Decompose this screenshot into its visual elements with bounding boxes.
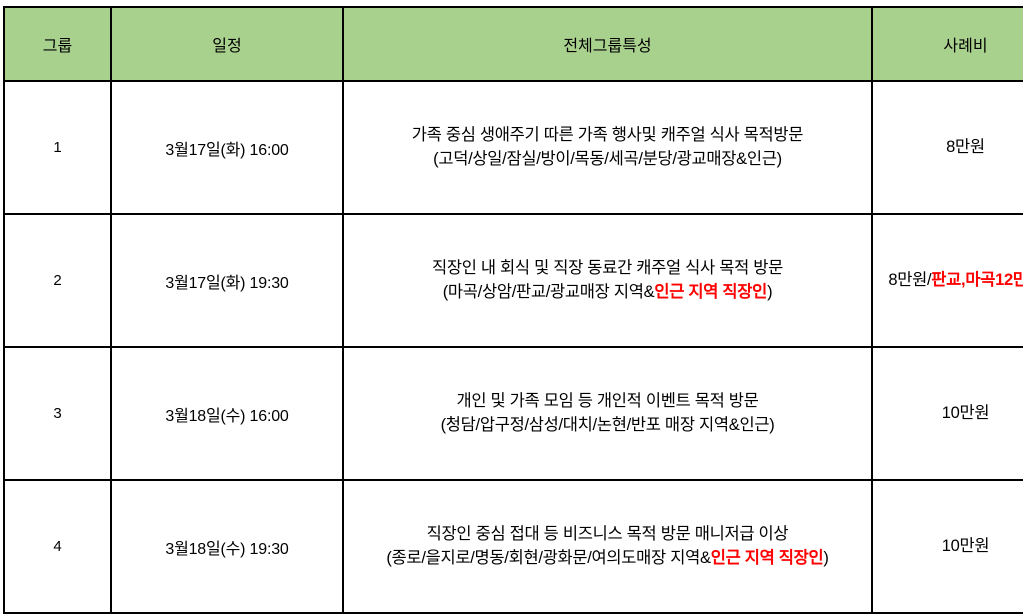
characteristics-line-2: (종로/을지로/명동/회현/광화문/여의도매장 지역&인근 지역 직장인) <box>348 547 867 571</box>
column-header-schedule: 일정 <box>111 7 343 81</box>
characteristics-plain: (청담/압구정/삼성/대치/논현/반포 매장 지역&인근) <box>441 416 775 434</box>
characteristics-line-2: (마곡/상암/판교/광교매장 지역&인근 지역 직장인) <box>348 281 867 305</box>
cell-schedule: 3월18일(수) 16:00 <box>111 347 343 480</box>
cell-group-number: 3 <box>4 347 111 480</box>
cell-schedule: 3월17일(화) 19:30 <box>111 214 343 347</box>
cell-group-number: 4 <box>4 480 111 613</box>
characteristics-plain: (고덕/상일/잠실/방이/목동/세곡/분당/광교매장&인근) <box>433 150 782 168</box>
characteristics-line-1: 가족 중심 생애주기 따른 가족 행사및 캐주얼 식사 목적방문 <box>348 124 867 148</box>
fee-plain: 8만원 <box>946 138 985 156</box>
cell-schedule: 3월18일(수) 19:30 <box>111 480 343 613</box>
cell-fee: 8만원/판교,마곡12만원 <box>872 214 1023 347</box>
characteristics-highlight: 인근 지역 직장인 <box>654 283 767 301</box>
table-container: 그룹 일정 전체그룹특성 사례비 1 3월17일(화) 16:00 가족 중심 … <box>3 6 1018 608</box>
table-row: 2 3월17일(화) 19:30 직장인 내 회식 및 직장 동료간 캐주얼 식… <box>4 214 1023 347</box>
characteristics-line-2: (고덕/상일/잠실/방이/목동/세곡/분당/광교매장&인근) <box>348 148 867 172</box>
column-header-group: 그룹 <box>4 7 111 81</box>
characteristics-line-1: 직장인 내 회식 및 직장 동료간 캐주얼 식사 목적 방문 <box>348 257 867 281</box>
cell-fee: 8만원 <box>872 81 1023 214</box>
fee-highlight: 판교,마곡12만원 <box>931 271 1023 289</box>
cell-characteristics: 개인 및 가족 모임 등 개인적 이벤트 목적 방문 (청담/압구정/삼성/대치… <box>343 347 872 480</box>
table-header-row: 그룹 일정 전체그룹특성 사례비 <box>4 7 1023 81</box>
characteristics-tail: ) <box>767 283 772 301</box>
cell-fee: 10만원 <box>872 347 1023 480</box>
characteristics-line-1: 직장인 중심 접대 등 비즈니스 목적 방문 매니저급 이상 <box>348 523 867 547</box>
characteristics-highlight: 인근 지역 직장인 <box>711 549 824 567</box>
cell-schedule: 3월17일(화) 16:00 <box>111 81 343 214</box>
column-header-fee: 사례비 <box>872 7 1023 81</box>
fee-plain: 10만원 <box>942 537 990 555</box>
table-header: 그룹 일정 전체그룹특성 사례비 <box>4 7 1023 81</box>
group-schedule-table: 그룹 일정 전체그룹특성 사례비 1 3월17일(화) 16:00 가족 중심 … <box>3 6 1023 614</box>
cell-characteristics: 가족 중심 생애주기 따른 가족 행사및 캐주얼 식사 목적방문 (고덕/상일/… <box>343 81 872 214</box>
table-row: 4 3월18일(수) 19:30 직장인 중심 접대 등 비즈니스 목적 방문 … <box>4 480 1023 613</box>
table-row: 1 3월17일(화) 16:00 가족 중심 생애주기 따른 가족 행사및 캐주… <box>4 81 1023 214</box>
characteristics-line-2: (청담/압구정/삼성/대치/논현/반포 매장 지역&인근) <box>348 414 867 438</box>
characteristics-plain: (종로/을지로/명동/회현/광화문/여의도매장 지역& <box>386 549 710 567</box>
characteristics-plain: (마곡/상암/판교/광교매장 지역& <box>443 283 655 301</box>
table-body: 1 3월17일(화) 16:00 가족 중심 생애주기 따른 가족 행사및 캐주… <box>4 81 1023 613</box>
characteristics-tail: ) <box>823 549 828 567</box>
characteristics-line-1: 개인 및 가족 모임 등 개인적 이벤트 목적 방문 <box>348 390 867 414</box>
cell-group-number: 2 <box>4 214 111 347</box>
cell-characteristics: 직장인 중심 접대 등 비즈니스 목적 방문 매니저급 이상 (종로/을지로/명… <box>343 480 872 613</box>
fee-plain: 8만원/ <box>888 271 931 289</box>
fee-plain: 10만원 <box>942 404 990 422</box>
cell-fee: 10만원 <box>872 480 1023 613</box>
table-row: 3 3월18일(수) 16:00 개인 및 가족 모임 등 개인적 이벤트 목적… <box>4 347 1023 480</box>
cell-characteristics: 직장인 내 회식 및 직장 동료간 캐주얼 식사 목적 방문 (마곡/상암/판교… <box>343 214 872 347</box>
cell-group-number: 1 <box>4 81 111 214</box>
column-header-characteristics: 전체그룹특성 <box>343 7 872 81</box>
